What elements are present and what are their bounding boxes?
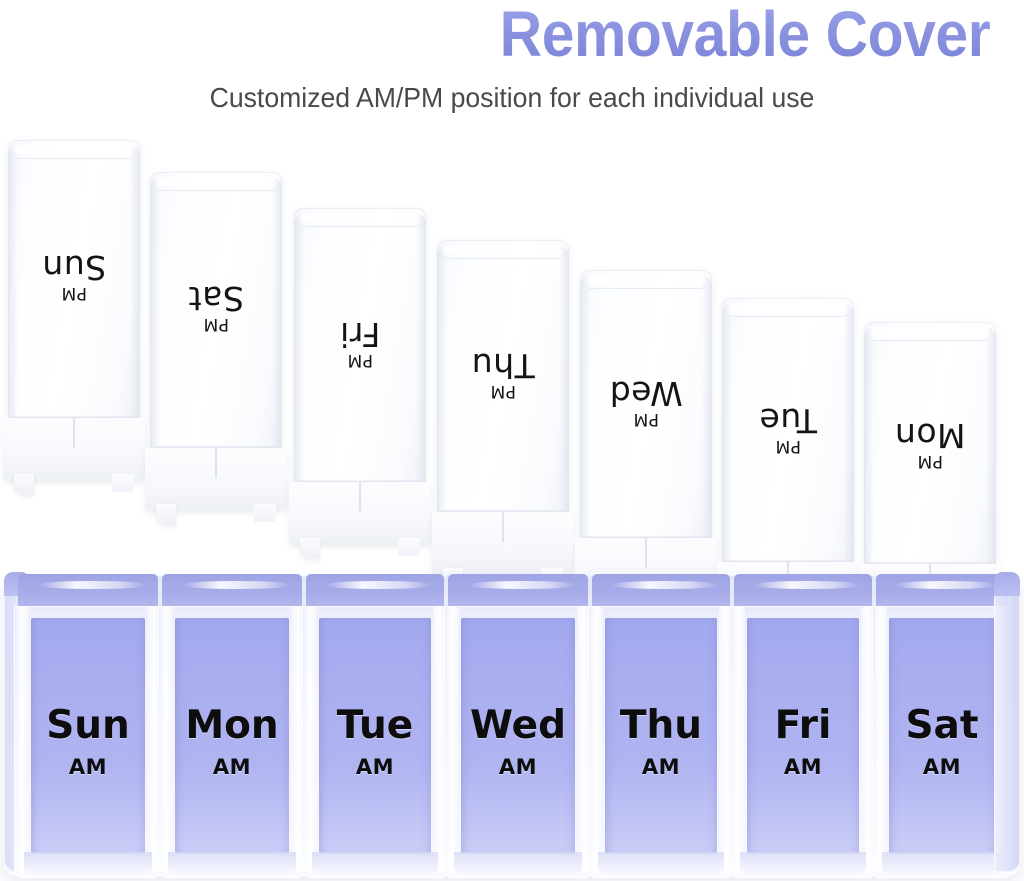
cover-gloss (727, 303, 849, 316)
cover-latch[interactable] (145, 448, 287, 510)
cover-label: PMSat (150, 282, 282, 339)
cover-label: PMFri (294, 318, 426, 375)
compartment-meridiem-label: AM (14, 757, 162, 778)
cover-label: PMThu (437, 349, 569, 406)
cover-gloss (155, 177, 277, 190)
cover-label: PMMon (864, 419, 996, 476)
compartment-wed-am[interactable]: WedAM (444, 566, 592, 878)
cover-latch-foot-right (398, 538, 420, 556)
compartment-fri-am[interactable]: FriAM (730, 566, 876, 878)
cover-fri-pm[interactable]: PMFri (294, 208, 426, 482)
cover-day-label: Fri (294, 318, 426, 351)
compartment-label: TueAM (302, 706, 448, 778)
header: Removable Cover Customized AM/PM positio… (0, 0, 1024, 128)
compartment-meridiem-label: AM (588, 757, 734, 778)
cover-label: PMSun (8, 251, 140, 308)
cover-day-label: Thu (437, 349, 569, 382)
compartment-sat-am[interactable]: SatAM (872, 566, 1012, 878)
compartment-floor (24, 852, 152, 874)
cover-sat-pm[interactable]: PMSat (150, 172, 282, 448)
cover-label: PMWed (580, 377, 712, 434)
compartment-floor (740, 852, 866, 874)
cover-mon-pm[interactable]: PMMon (864, 322, 996, 564)
compartment-day-label: Mon (158, 706, 306, 745)
cover-gloss (869, 327, 991, 340)
compartment-floor (168, 852, 296, 874)
compartment-floor (598, 852, 724, 874)
cover-gloss (585, 275, 707, 288)
compartment-thu-am[interactable]: ThuAM (588, 566, 734, 878)
tray-end-cap-right-top (994, 572, 1020, 596)
compartment-meridiem-label: AM (302, 757, 448, 778)
cover-latch-foot-right (254, 504, 276, 522)
compartment-label: ThuAM (588, 706, 734, 778)
cover-latch[interactable] (289, 482, 431, 544)
compartment-label: MonAM (158, 706, 306, 778)
cover-wed-pm[interactable]: PMWed (580, 270, 712, 538)
cover-day-label: Sun (8, 251, 140, 284)
cover-gloss (442, 245, 564, 258)
page-subtitle: Customized AM/PM position for each indiv… (26, 82, 999, 114)
page-title: Removable Cover (499, 2, 990, 66)
compartment-label: SatAM (872, 706, 1012, 778)
cover-tue-pm[interactable]: PMTue (722, 298, 854, 562)
compartment-label: FriAM (730, 706, 876, 778)
cover-latch-foot-right (112, 474, 134, 492)
cover-gloss (13, 145, 135, 158)
compartment-day-label: Sat (872, 706, 1012, 745)
cover-day-label: Sat (150, 282, 282, 315)
compartment-tue-am[interactable]: TueAM (302, 566, 448, 878)
compartment-floor (312, 852, 438, 874)
product-image: Removable Cover Customized AM/PM positio… (0, 0, 1024, 881)
compartment-floor (882, 852, 1002, 874)
compartment-meridiem-label: AM (444, 757, 592, 778)
compartment-floor (454, 852, 582, 874)
cover-thu-pm[interactable]: PMThu (437, 240, 569, 512)
cover-label: PMTue (722, 404, 854, 461)
compartment-day-label: Thu (588, 706, 734, 745)
cover-sun-pm[interactable]: PMSun (8, 140, 140, 418)
compartment-day-label: Sun (14, 706, 162, 745)
cover-latch[interactable] (3, 418, 145, 480)
pill-tray: SunAMMonAMTueAMWedAMThuAMFriAMSatAM (4, 566, 1020, 878)
cover-day-label: Wed (580, 377, 712, 410)
cover-day-label: Mon (864, 419, 996, 452)
compartment-meridiem-label: AM (872, 757, 1012, 778)
compartment-meridiem-label: AM (730, 757, 876, 778)
compartment-label: WedAM (444, 706, 592, 778)
compartment-mon-am[interactable]: MonAM (158, 566, 306, 878)
cover-gloss (299, 213, 421, 226)
compartment-day-label: Fri (730, 706, 876, 745)
compartment-sun-am[interactable]: SunAM (14, 566, 162, 878)
compartment-label: SunAM (14, 706, 162, 778)
compartment-day-label: Wed (444, 706, 592, 745)
compartment-day-label: Tue (302, 706, 448, 745)
tray-end-cap-right (994, 580, 1020, 872)
cover-latch[interactable] (432, 512, 574, 574)
compartment-meridiem-label: AM (158, 757, 306, 778)
cover-day-label: Tue (722, 404, 854, 437)
